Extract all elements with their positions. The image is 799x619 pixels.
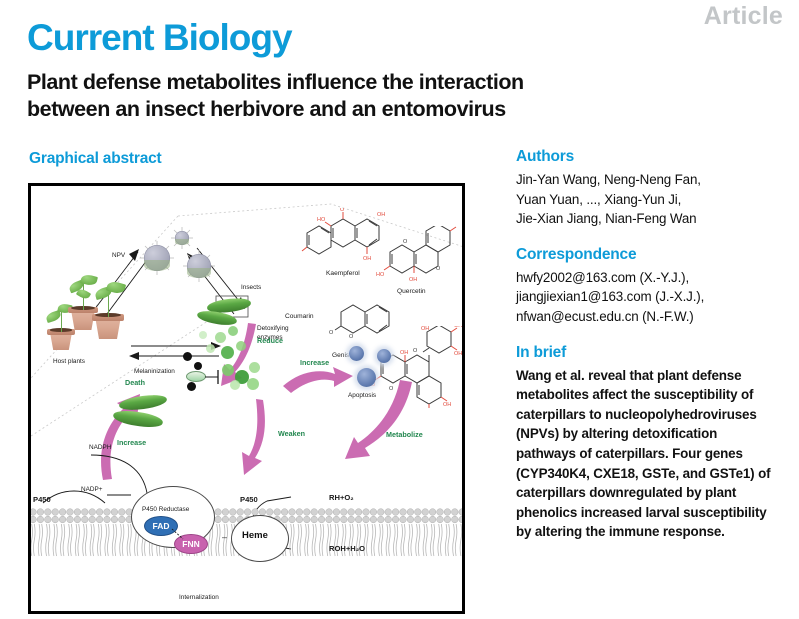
arrow-label-reduce: Reduce: [257, 336, 283, 345]
correspondence-email-3[interactable]: nfwan@ecust.edu.cn (N.-F.W.): [516, 307, 791, 327]
nadph-label: NADPH: [89, 444, 111, 452]
p450-left-label: P450: [33, 496, 51, 504]
death-label: Death: [125, 378, 145, 387]
correspondence-emails: hwfy2002@163.com (X.-Y.J.), jiangjiexian…: [516, 268, 791, 327]
enzyme-blob: [199, 331, 207, 339]
p450-right-label: P450: [240, 496, 258, 504]
journal-title: Current Biology: [27, 18, 292, 58]
in-brief-line-3: caterpillars to nucleopolyhedroviruses: [516, 405, 791, 425]
enzyme-blob: [221, 346, 234, 359]
svg-text:O: O: [340, 208, 345, 213]
svg-text:OH: OH: [409, 277, 417, 283]
enzyme-blob: [206, 344, 215, 353]
paper-title-line-1: Plant defense metabolites influence the …: [27, 69, 527, 96]
svg-text:OH: OH: [443, 402, 451, 408]
chem-name-quercetin: Quercetin: [397, 288, 426, 295]
in-brief-line-4: (NPVs) by altering detoxification: [516, 424, 791, 444]
apoptotic-cell-1: [349, 346, 364, 361]
melanin-dot-3: [187, 382, 196, 391]
svg-text:OH: OH: [363, 256, 371, 262]
plant-stem-1: [61, 310, 62, 332]
graphical-abstract-heading: Graphical abstract: [29, 150, 162, 168]
correspondence-email-2[interactable]: jiangjiexian1@163.com (J.-X.J.),: [516, 287, 791, 307]
svg-text:OH: OH: [452, 226, 460, 228]
npv-virion-large: [144, 245, 170, 271]
in-brief-line-1: Wang et al. reveal that plant defense: [516, 366, 791, 386]
authors-line-1: Jin-Yan Wang, Neng-Neng Fan,: [516, 170, 791, 190]
apoptosis-label: Apoptosis: [348, 392, 376, 400]
in-brief-line-8: phenolics increased larval susceptibilit…: [516, 503, 791, 523]
svg-text:O: O: [413, 348, 418, 354]
graphical-abstract-figure: NPV: [28, 183, 465, 614]
in-brief-block: In brief Wang et al. reveal that plant d…: [516, 344, 791, 542]
svg-text:OH: OH: [454, 326, 462, 329]
internalization-label: Internalization: [179, 594, 219, 602]
apoptotic-cell-3: [357, 368, 376, 387]
in-brief-line-6: (CYP340K4, CXE18, GSTe, and GSTe1) of: [516, 464, 791, 484]
plant-pot-3: [93, 315, 123, 339]
rh-o2-label: RH+O₂: [329, 494, 354, 502]
svg-text:OH: OH: [454, 351, 462, 357]
arrow-label-increase-apoptosis: Increase: [300, 358, 329, 367]
svg-text:O: O: [329, 330, 334, 336]
enzyme-blob: [249, 362, 260, 373]
correspondence-email-1[interactable]: hwfy2002@163.com (X.-Y.J.),: [516, 268, 791, 288]
svg-text:O: O: [403, 239, 408, 245]
authors-line-2: Yuan Yuan, ..., Xiang-Yun Ji,: [516, 190, 791, 210]
in-brief-heading: In brief: [516, 344, 791, 362]
in-brief-line-2: metabolites affect the susceptibility of: [516, 385, 791, 405]
page-title: Plant defense metabolites influence the …: [27, 69, 527, 123]
fad-fnn-link: [171, 528, 189, 542]
in-brief-line-7: caterpillars downregulated by plant: [516, 483, 791, 503]
correspondence-block: Correspondence hwfy2002@163.com (X.-Y.J.…: [516, 246, 791, 327]
quercetin-structure: HOOHOH OO: [376, 226, 462, 288]
apoptotic-cell-2: [377, 349, 391, 363]
enzyme-blob: [247, 378, 259, 390]
in-brief-line-9: by altering the immune response.: [516, 522, 791, 542]
npv-label: NPV: [112, 252, 125, 260]
article-type-label: Article: [704, 2, 783, 31]
graphical-abstract-page: Article Current Biology Plant defense me…: [0, 0, 799, 619]
metadata-column: Authors Jin-Yan Wang, Neng-Neng Fan, Yua…: [516, 148, 791, 559]
arrow-label-weaken: Weaken: [278, 429, 305, 438]
svg-text:O: O: [436, 266, 441, 272]
authors-block: Authors Jin-Yan Wang, Neng-Neng Fan, Yua…: [516, 148, 791, 229]
svg-text:OH: OH: [421, 326, 429, 332]
enzyme-blob: [215, 332, 226, 343]
detox-enzymes-label-line1: Detoxifying: [257, 325, 289, 333]
svg-text:OH: OH: [400, 350, 408, 356]
plant-pot-1: [48, 330, 74, 350]
figure-canvas: NPV: [31, 186, 462, 611]
p450-reductase-label: P450 Reductase: [142, 506, 189, 514]
enzyme-blob: [230, 380, 240, 390]
melanin-dot-2: [194, 362, 202, 370]
host-plants-label: Host plants: [53, 358, 85, 366]
chem-name-kaempferol: Kaempferol: [326, 270, 360, 277]
in-brief-line-5: pathways of caterpillars. Four genes: [516, 444, 791, 464]
insects-label: Insects: [241, 284, 261, 292]
chem-name-coumarin: Coumarin: [285, 313, 314, 320]
npv-virion-small: [175, 231, 189, 245]
melanization-label: Melaninization: [134, 368, 175, 376]
fad-label: FAD: [153, 521, 170, 531]
melanin-dot-1: [183, 352, 192, 361]
svg-text:O: O: [389, 386, 394, 392]
authors-list: Jin-Yan Wang, Neng-Neng Fan, Yuan Yuan, …: [516, 170, 791, 229]
enzyme-blob: [236, 341, 246, 351]
enzyme-blob: [222, 364, 234, 376]
npv-virion-medium: [187, 254, 211, 278]
melanin-capsule: [186, 371, 206, 382]
svg-text:OH: OH: [377, 212, 385, 218]
heme-label: Heme: [242, 530, 268, 541]
kaempferol-structure: OOH HOOH: [301, 208, 387, 268]
svg-text:HO: HO: [317, 217, 326, 223]
enzyme-blob: [228, 326, 238, 336]
genistein-structure: HOOH OHOH OHOH OH OO: [369, 326, 465, 408]
authors-heading: Authors: [516, 148, 791, 166]
arrow-label-metabolize: Metabolize: [386, 430, 423, 439]
svg-text:HO: HO: [376, 272, 385, 278]
nadp-plus-label: NADP+: [81, 486, 103, 494]
correspondence-heading: Correspondence: [516, 246, 791, 264]
authors-line-3: Jie-Xian Jiang, Nian-Feng Wan: [516, 209, 791, 229]
roh-h2o-label: ROH+H₂O: [329, 545, 365, 553]
svg-text:O: O: [349, 334, 354, 338]
heme-tick: –: [222, 532, 227, 542]
paper-title-line-2: between an insect herbivore and an entom…: [27, 96, 527, 123]
in-brief-text: Wang et al. reveal that plant defense me…: [516, 366, 791, 542]
